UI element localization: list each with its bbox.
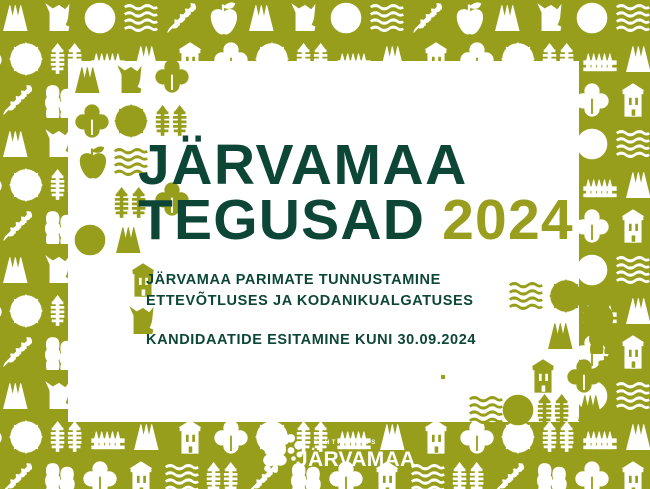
clover-icon: [154, 58, 190, 94]
conifer-pair-icon: [536, 392, 572, 428]
watchtower-icon: [525, 358, 561, 394]
wheel-cross-icon: [72, 222, 108, 258]
headline-line-1: JÄRVAMAA: [138, 138, 568, 193]
headline-word-tegusad: TEGUSAD: [138, 188, 425, 252]
subtitle-line-1: JÄRVAMAA PARIMATE TUNNUSTAMINE: [146, 270, 566, 291]
fox-icon: [113, 62, 149, 98]
apple-icon: [74, 144, 110, 180]
subtitle-block: JÄRVAMAA PARIMATE TUNNUSTAMINE ETTEVÕTLU…: [146, 270, 566, 311]
headline-year: 2024: [425, 188, 574, 252]
clover-icon: [74, 103, 110, 139]
spruce-forest-icon: [72, 62, 108, 98]
panel-dot-mark: [441, 375, 445, 379]
headline-line-2: TEGUSAD 2024: [138, 193, 568, 248]
poster-canvas: JÄRVAMAA TEGUSAD 2024 JÄRVAMAA PARIMATE …: [0, 0, 650, 489]
organisation-logo: SIHTASUTUS JÄRVAMAA: [258, 432, 398, 480]
page-title: JÄRVAMAA TEGUSAD 2024: [138, 138, 568, 247]
wheel-cross-icon: [500, 392, 536, 428]
logo-wordmark: JÄRVAMAA: [296, 448, 415, 472]
water-waves-icon: [468, 392, 504, 428]
logo-eyebrow-text: SIHTASUTUS: [314, 440, 378, 446]
spruce-forest-icon: [575, 390, 611, 426]
subtitle-line-2: ETTEVÕTLUSES JA KODANIKUALGATUSES: [146, 291, 566, 312]
wheat-ear-icon: [588, 342, 624, 378]
spruce-forest-icon: [545, 318, 581, 354]
deadline-text: KANDIDAATIDE ESITAMINE KUNI 30.09.2024: [146, 332, 476, 348]
